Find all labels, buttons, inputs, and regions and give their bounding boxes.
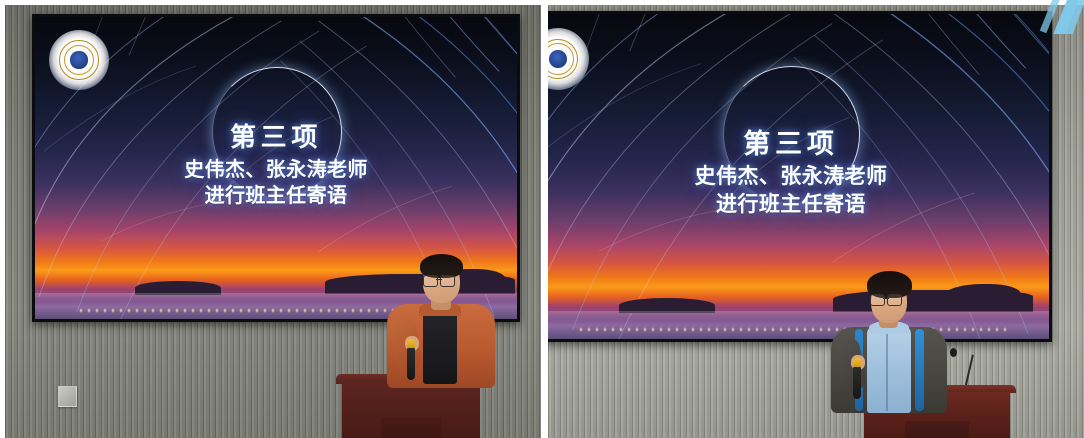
speaker-shirt-placket: [886, 327, 888, 411]
led-presentation-screen: 第三项 史伟杰、张永涛老师 进行班主任寄语: [548, 11, 1052, 342]
school-emblem-badge: [49, 30, 109, 90]
speaker-blue-shirt: [831, 271, 949, 411]
speaker-shirt: [867, 325, 911, 413]
handheld-microphone: [853, 365, 861, 399]
podium-mic-head: [950, 348, 957, 357]
speaker-glasses: [423, 275, 461, 286]
speaker-jacket-trim-right: [915, 329, 924, 411]
speaker-orange-jacket: [383, 254, 501, 386]
island-silhouette-far: [943, 284, 1021, 310]
handheld-microphone: [407, 346, 415, 380]
photo-collage-page: 第三项 史伟杰、张永涛老师 进行班主任寄语: [0, 0, 1084, 438]
speaker-glasses: [870, 294, 908, 305]
photo-right: 第三项 史伟杰、张永涛老师 进行班主任寄语: [548, 5, 1084, 438]
photo-left: 第三项 史伟杰、张永涛老师 进行班主任寄语: [5, 5, 541, 438]
sea-reflection: [548, 311, 1049, 321]
slide-halo-ring: [212, 67, 342, 197]
wall-socket-plate: [58, 386, 77, 407]
slide-halo-ring: [723, 66, 860, 203]
speaker-inner-shirt: [423, 306, 457, 384]
